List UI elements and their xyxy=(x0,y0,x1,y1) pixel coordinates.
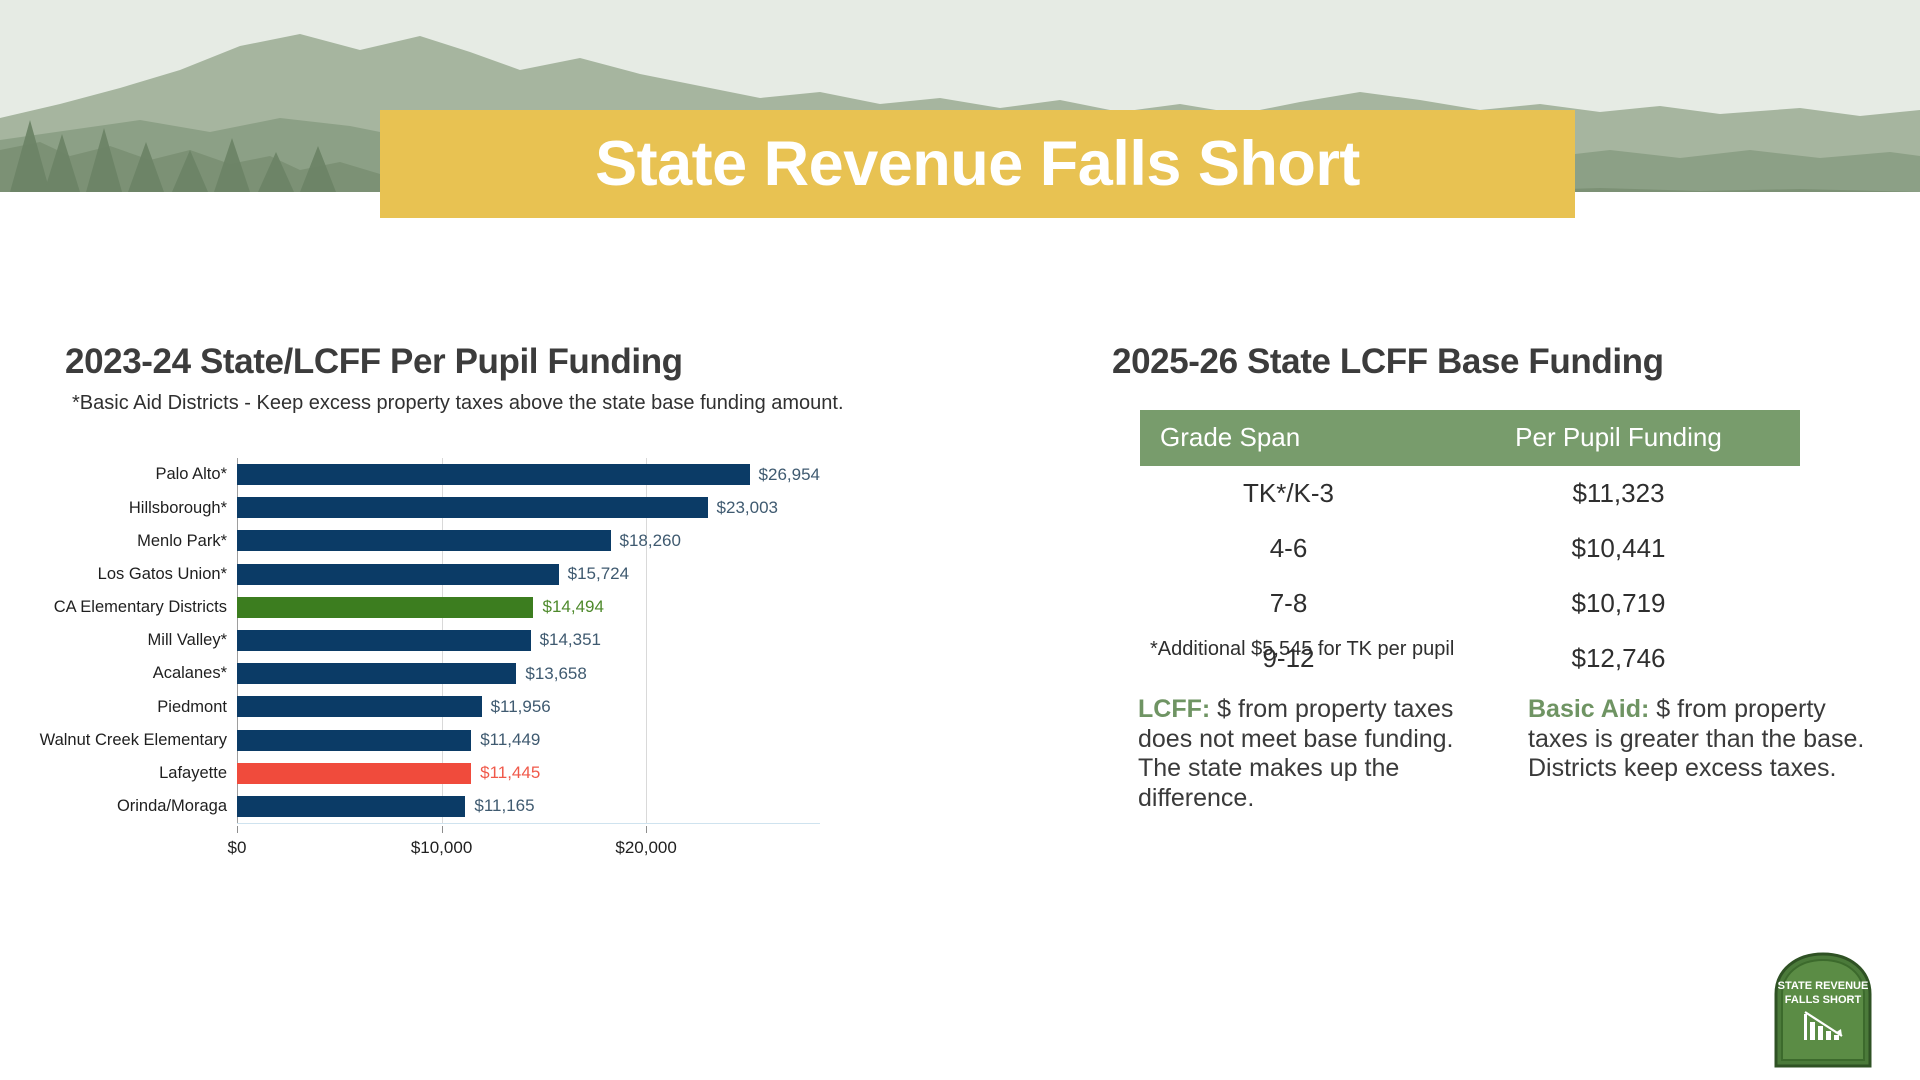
chart-subtitle: *Basic Aid Districts - Keep excess prope… xyxy=(72,392,844,415)
bar-row: Piedmont$11,956 xyxy=(237,690,820,723)
bar xyxy=(237,564,559,585)
table-footnote: *Additional $5,545 for TK per pupil xyxy=(1150,638,1454,661)
cell-per-pupil-funding: $10,441 xyxy=(1437,521,1800,576)
table-row: 4-6$10,441 xyxy=(1140,521,1800,576)
definition-lcff: LCFF: $ from property taxes does not mee… xyxy=(1138,695,1488,813)
state-revenue-falls-short-logo: STATE REVENUE FALLS SHORT xyxy=(1768,948,1878,1068)
bar-value-label: $26,954 xyxy=(759,465,820,485)
cell-per-pupil-funding: $12,746 xyxy=(1437,631,1800,686)
bar-value-label: $14,494 xyxy=(542,597,603,617)
slide-title-banner: State Revenue Falls Short xyxy=(380,110,1575,218)
bar-value-label: $14,351 xyxy=(540,630,601,650)
bar xyxy=(237,530,611,551)
table-header: Grade Span Per Pupil Funding xyxy=(1140,410,1800,466)
bar-row: Hillsborough*$23,003 xyxy=(237,491,820,524)
bar-value-label: $11,445 xyxy=(480,763,540,783)
chart-plot-area: Palo Alto*$26,954Hillsborough*$23,003Men… xyxy=(237,458,820,823)
bar-category-label: Palo Alto* xyxy=(155,466,227,483)
bar-category-label: Acalanes* xyxy=(153,665,227,682)
column-header-per-pupil-funding: Per Pupil Funding xyxy=(1437,410,1800,466)
chart-title: 2023-24 State/LCFF Per Pupil Funding xyxy=(65,342,683,382)
bar-row: Mill Valley*$14,351 xyxy=(237,624,820,657)
bar-row: Orinda/Moraga$11,165 xyxy=(237,790,820,823)
bar xyxy=(237,597,533,618)
bar-row: Menlo Park*$18,260 xyxy=(237,524,820,557)
bar-row: Lafayette$11,445 xyxy=(237,757,820,790)
bar-row: Walnut Creek Elementary$11,449 xyxy=(237,723,820,756)
bar-value-label: $15,724 xyxy=(568,564,629,584)
bar-category-label: Walnut Creek Elementary xyxy=(40,732,227,749)
definition-term-basic-aid: Basic Aid: xyxy=(1528,695,1649,723)
bar xyxy=(237,730,471,751)
bar-category-label: Lafayette xyxy=(159,765,227,782)
x-axis-tick-label: $10,000 xyxy=(411,838,472,858)
bar-category-label: Piedmont xyxy=(157,699,227,716)
x-axis-tick xyxy=(237,826,238,833)
bar-row: Los Gatos Union*$15,724 xyxy=(237,558,820,591)
slide-title: State Revenue Falls Short xyxy=(595,133,1360,196)
cell-per-pupil-funding: $11,323 xyxy=(1437,466,1800,521)
bar-category-label: Hillsborough* xyxy=(129,500,227,517)
bar xyxy=(237,497,708,518)
bar-row: CA Elementary Districts$14,494 xyxy=(237,591,820,624)
bar-category-label: Los Gatos Union* xyxy=(98,566,227,583)
logo-line-2: FALLS SHORT xyxy=(1785,994,1862,1006)
cell-grade-span: TK*/K-3 xyxy=(1140,466,1437,521)
bar xyxy=(237,696,482,717)
cell-grade-span: 4-6 xyxy=(1140,521,1437,576)
left-panel: 2023-24 State/LCFF Per Pupil Funding *Ba… xyxy=(0,310,1080,930)
slide-root: State Revenue Falls Short 2023-24 State/… xyxy=(0,0,1920,1080)
bar-category-label: Mill Valley* xyxy=(148,632,227,649)
bar-category-label: Menlo Park* xyxy=(137,533,227,550)
definitions-row: LCFF: $ from property taxes does not mee… xyxy=(1138,695,1878,813)
bar-row: Palo Alto*$26,954 xyxy=(237,458,820,491)
table-row: 7-8$10,719 xyxy=(1140,576,1800,631)
bar-row: Acalanes*$13,658 xyxy=(237,657,820,690)
lcff-base-funding-title: 2025-26 State LCFF Base Funding xyxy=(1112,342,1664,382)
bar-value-label: $11,449 xyxy=(480,730,540,750)
bar-category-label: CA Elementary Districts xyxy=(54,599,227,616)
cell-per-pupil-funding: $10,719 xyxy=(1437,576,1800,631)
bar xyxy=(237,630,531,651)
bar-rows: Palo Alto*$26,954Hillsborough*$23,003Men… xyxy=(237,458,820,823)
bar xyxy=(237,763,471,784)
bar-value-label: $23,003 xyxy=(717,498,778,518)
bar-value-label: $11,956 xyxy=(491,697,551,717)
bar-value-label: $11,165 xyxy=(474,796,534,816)
bar xyxy=(237,663,516,684)
per-pupil-funding-bar-chart: Palo Alto*$26,954Hillsborough*$23,003Men… xyxy=(0,450,1080,870)
x-axis-tick-label: $20,000 xyxy=(615,838,676,858)
x-axis-baseline xyxy=(237,823,820,824)
bar-value-label: $13,658 xyxy=(525,664,586,684)
right-panel: 2025-26 State LCFF Base Funding Grade Sp… xyxy=(1080,310,1920,990)
definition-basic-aid: Basic Aid: $ from property taxes is grea… xyxy=(1528,695,1878,813)
x-axis-tick-label: $0 xyxy=(228,838,247,858)
bar-category-label: Orinda/Moraga xyxy=(117,798,227,815)
table-row: TK*/K-3$11,323 xyxy=(1140,466,1800,521)
cell-grade-span: 7-8 xyxy=(1140,576,1437,631)
logo-line-1: STATE REVENUE xyxy=(1778,980,1869,992)
column-header-grade-span: Grade Span xyxy=(1140,410,1437,466)
x-axis-tick xyxy=(442,826,443,833)
bar xyxy=(237,464,750,485)
x-axis: $0$10,000$20,000 xyxy=(237,826,820,866)
x-axis-tick xyxy=(646,826,647,833)
definition-term-lcff: LCFF: xyxy=(1138,695,1210,723)
bar xyxy=(237,796,465,817)
bar-value-label: $18,260 xyxy=(620,531,681,551)
table-header-row: Grade Span Per Pupil Funding xyxy=(1140,410,1800,466)
shield-badge-icon: STATE REVENUE FALLS SHORT xyxy=(1768,948,1878,1068)
